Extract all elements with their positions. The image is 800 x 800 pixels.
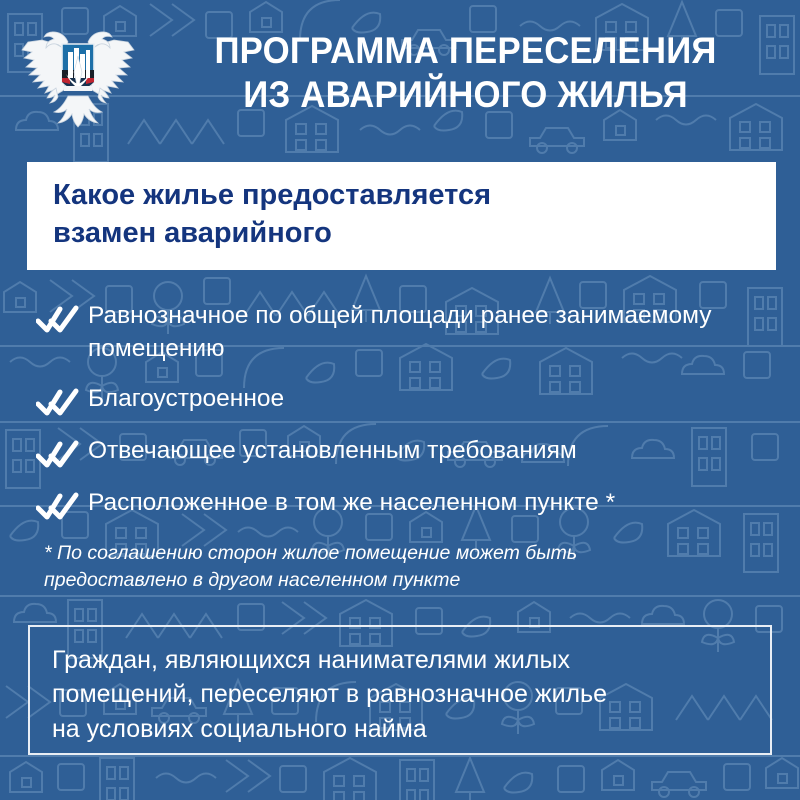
highlight-box-line-2: помещений, переселяют в равнозначное жил… bbox=[52, 677, 770, 711]
double-check-icon bbox=[36, 305, 80, 335]
section-heading-text: Какое жилье предоставляется взамен авари… bbox=[53, 176, 776, 253]
page-title-line-2: ИЗ АВАРИЙНОГО ЖИЛЬЯ bbox=[168, 73, 764, 117]
section-heading-card: Какое жилье предоставляется взамен авари… bbox=[27, 162, 776, 270]
double-headed-eagle-emblem bbox=[8, 7, 148, 139]
page-title-line-1: ПРОГРАММА ПЕРЕСЕЛЕНИЯ bbox=[168, 29, 764, 73]
page-title: ПРОГРАММА ПЕРЕСЕЛЕНИЯ ИЗ АВАРИЙНОГО ЖИЛЬ… bbox=[168, 29, 781, 118]
header-band: ПРОГРАММА ПЕРЕСЕЛЕНИЯ ИЗ АВАРИЙНОГО ЖИЛЬ… bbox=[0, 0, 800, 146]
requirements-list: Равнозначное по общей площади ранее зани… bbox=[36, 300, 776, 522]
list-item: Расположенное в том же населенном пункте… bbox=[36, 487, 776, 522]
list-item-label: Благоустроенное bbox=[80, 383, 284, 416]
double-check-icon bbox=[36, 492, 80, 522]
list-item: Отвечающее установленным требованиям bbox=[36, 435, 776, 470]
highlight-box-line-1: Граждан, являющихся нанимателями жилых bbox=[52, 643, 770, 677]
double-check-icon bbox=[36, 388, 80, 418]
footnote: * По соглашению сторон жилое помещение м… bbox=[44, 540, 744, 594]
list-item-label: Расположенное в том же населенном пункте… bbox=[80, 487, 615, 520]
list-item: Равнозначное по общей площади ранее зани… bbox=[36, 300, 776, 366]
highlight-box-text: Граждан, являющихся нанимателями жилых п… bbox=[52, 643, 770, 746]
double-check-icon bbox=[36, 440, 80, 470]
highlight-box: Граждан, являющихся нанимателями жилых п… bbox=[28, 625, 772, 755]
footnote-line-2: предоставлено в другом населенном пункте bbox=[44, 567, 744, 594]
infographic-poster: ПРОГРАММА ПЕРЕСЕЛЕНИЯ ИЗ АВАРИЙНОГО ЖИЛЬ… bbox=[0, 0, 800, 800]
section-heading-line-1: Какое жилье предоставляется bbox=[53, 176, 776, 214]
highlight-box-line-3: на условиях социального найма bbox=[52, 712, 770, 746]
section-heading-line-2: взамен аварийного bbox=[53, 214, 776, 252]
list-item-label: Равнозначное по общей площади ранее зани… bbox=[80, 300, 738, 366]
list-item: Благоустроенное bbox=[36, 383, 776, 418]
list-item-label: Отвечающее установленным требованиям bbox=[80, 435, 577, 468]
footnote-line-1: * По соглашению сторон жилое помещение м… bbox=[44, 540, 744, 567]
